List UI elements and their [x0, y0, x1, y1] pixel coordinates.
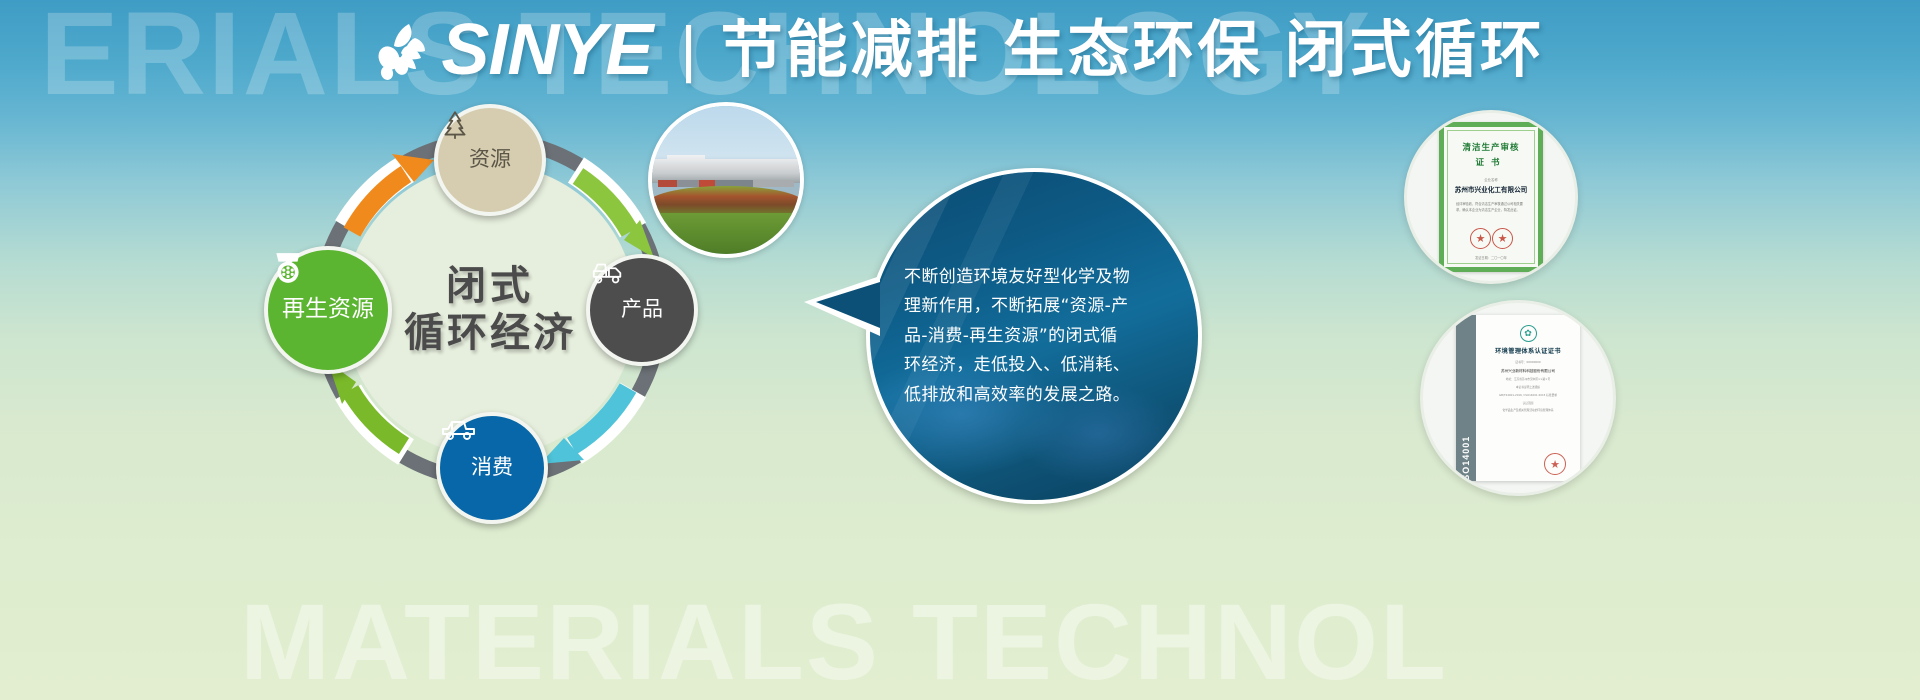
node-label-resource: 资源: [469, 148, 511, 171]
node-label-recycle: 再生资源: [282, 297, 374, 322]
certificate-2-spine-text: ISO14001: [1461, 436, 1471, 485]
bubble-line-4: 环经济，走低投入、低消耗、: [904, 355, 1164, 375]
photo-lawn: [652, 213, 800, 254]
header-separator: |: [680, 19, 696, 81]
headline-part-1: 节能减排: [721, 13, 981, 86]
headline-part-2: 生态环保: [1003, 13, 1263, 86]
banner-header: SINYE | 节能减排生态环保闭式循环: [0, 14, 1920, 86]
description-bubble: 不断创造环境友好型化学及物 理新作用，不断拓展“资源-产 品-消费-再生资源”的…: [866, 168, 1202, 504]
node-label-consume: 消费: [471, 456, 513, 479]
certificate-2-spine: ISO14001: [1456, 315, 1476, 481]
bubble-line-2: 理新作用，不断拓展“资源-产: [904, 296, 1164, 316]
certificate-1-date: 发证日期：二〇一〇年: [1444, 255, 1538, 260]
bubble-line-5: 低排放和高效率的发展之路。: [904, 385, 1164, 405]
circular-economy-diagram: 闭式 循环经济 资源: [288, 108, 692, 512]
certificate-2-paper: ISO14001 ✿ 环境管理体系认证证书 证书号：00000000 苏州兴业新…: [1456, 315, 1580, 481]
certificate-2-scope-label: 认证范围: [1483, 401, 1573, 406]
tree-icon: [438, 108, 472, 142]
certificate-2-address: 地址：江苏省苏州市吴中区××路×号: [1483, 377, 1573, 382]
truck-icon: [590, 258, 626, 288]
certificate-2-standard: GB/T24001-2016 / ISO14001:2015 标准要求: [1483, 393, 1573, 398]
factory-garden-photo: [648, 102, 804, 258]
certificate-2-number: 证书号：00000000: [1483, 360, 1573, 364]
sprout-leaf-icon: [375, 18, 439, 82]
cnas-logo-icon: ✿: [1520, 325, 1537, 342]
certificate-2-title: 环境管理体系认证证书: [1483, 346, 1573, 355]
diagram-node-recycle[interactable]: 再生资源: [264, 246, 392, 374]
diagram-center-label: 闭式 循环经济: [404, 263, 576, 357]
certificate-2-body: ✿ 环境管理体系认证证书 证书号：00000000 苏州兴业新材料科技股份有限公…: [1476, 315, 1580, 481]
watermark-bottom-text: MATERIALS TECHNOL: [240, 579, 1448, 700]
headline-part-3: 闭式循环: [1285, 13, 1545, 86]
brand-logo[interactable]: SINYE: [375, 14, 652, 86]
promo-banner: ERIALS TECHNOLOGY MATERIALS TECHNOL SINY…: [0, 0, 1920, 700]
center-label-line1: 闭式: [404, 263, 576, 310]
certificate-1-company-label: 企业名称: [1453, 177, 1529, 182]
red-seal-icon-2: ★: [1492, 228, 1513, 249]
diagram-node-product[interactable]: 产品: [586, 254, 698, 366]
certificate-1-seals: ★ ★: [1470, 228, 1513, 249]
certificate-1-title: 清洁生产审核: [1453, 141, 1529, 153]
recycle-gear-icon: [268, 250, 308, 286]
diagram-node-consume[interactable]: 消费: [436, 412, 548, 524]
headline-text: 节能减排生态环保闭式循环: [721, 19, 1545, 81]
center-label-line2: 循环经济: [404, 310, 576, 357]
bubble-circle: 不断创造环境友好型化学及物 理新作用，不断拓展“资源-产 品-消费-再生资源”的…: [866, 168, 1202, 504]
certificate-2-company: 苏州兴业新材料科技股份有限公司: [1483, 369, 1573, 374]
certificate-iso14001[interactable]: ISO14001 ✿ 环境管理体系认证证书 证书号：00000000 苏州兴业新…: [1420, 300, 1616, 496]
certificate-clean-production[interactable]: 清洁生产审核 证书 企业名称 苏州市兴业化工有限公司 经评审验收，符合清洁生产审…: [1404, 110, 1578, 284]
red-seal-icon: ★: [1470, 228, 1491, 249]
certificate-1-subtitle: 证书: [1453, 156, 1529, 168]
bubble-text-block: 不断创造环境友好型化学及物 理新作用，不断拓展“资源-产 品-消费-再生资源”的…: [870, 172, 1198, 500]
certificate-1-paper: 清洁生产审核 证书 企业名称 苏州市兴业化工有限公司 经评审验收，符合清洁生产审…: [1439, 122, 1543, 272]
red-seal-icon: ★: [1544, 453, 1566, 475]
car-icon: [440, 416, 478, 444]
node-label-product: 产品: [621, 298, 663, 321]
certificate-1-body: 经评审验收，符合清洁生产审核通过公司相关要求，确认本企业为清洁生产企业，特发此证…: [1453, 201, 1529, 213]
certificate-1-company: 苏州市兴业化工有限公司: [1453, 184, 1529, 194]
bubble-line-3: 品-消费-再生资源”的闭式循: [904, 326, 1164, 346]
diagram-node-resource[interactable]: 资源: [434, 104, 546, 216]
bubble-line-1: 不断创造环境友好型化学及物: [904, 267, 1164, 287]
certificate-2-standard-label: 本证书证明上述组织: [1483, 385, 1573, 390]
brand-name: SINYE: [441, 14, 652, 86]
certificate-2-scope: 化学品生产及相关管理活动的环境管理体系: [1483, 408, 1573, 413]
